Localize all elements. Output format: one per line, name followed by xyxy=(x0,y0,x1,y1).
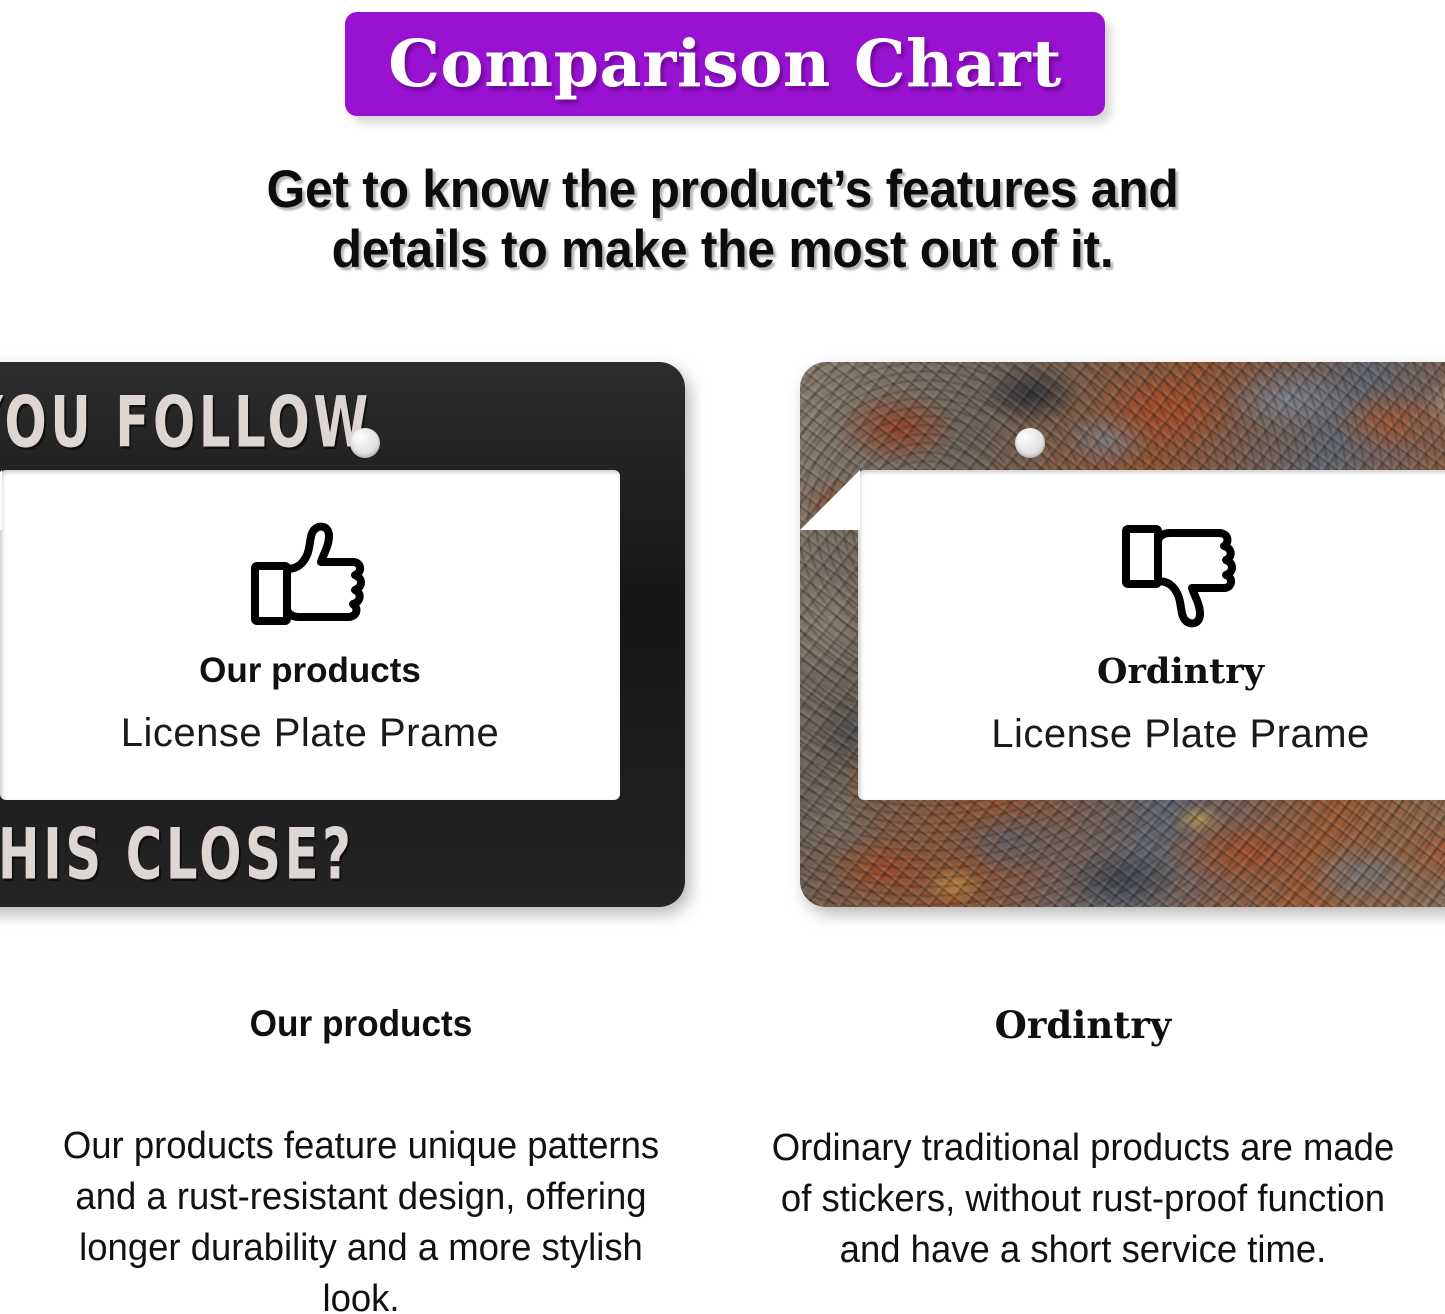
subtitle-line-2: details to make the most out of it. xyxy=(43,220,1401,280)
plate-chamfer xyxy=(800,470,860,530)
our-product-description-heading: Our products xyxy=(45,1003,678,1045)
ordinary-product-description-heading: Ordintry xyxy=(750,1003,1416,1047)
plate-chamfer xyxy=(0,470,2,530)
ordinary-product-plate-window: Ordintry License Plate Prame xyxy=(858,470,1445,800)
descriptions-row: Our products Our products feature unique… xyxy=(0,985,1445,1314)
plate-grunge-text-bottom: S THIS CLOSE? xyxy=(0,814,355,897)
our-product-description-body: Our products feature unique patterns and… xyxy=(41,1121,680,1314)
our-product-description-column: Our products Our products feature unique… xyxy=(0,985,722,1314)
ordinary-product-plate-frame: Ordintry License Plate Prame xyxy=(800,362,1445,907)
subtitle: Get to know the product’s features and d… xyxy=(43,160,1401,280)
comparison-chart-page: Comparison Chart Get to know the product… xyxy=(0,0,1445,1314)
mounting-hole xyxy=(350,428,380,458)
our-product-plate-window: Our products License Plate Prame xyxy=(0,470,620,800)
our-product-plate-frame: O YOU FOLLOW S THIS CLOSE? Our products xyxy=(0,362,685,907)
plate-grunge-text-top: O YOU FOLLOW xyxy=(0,382,372,465)
product-frames-area: O YOU FOLLOW S THIS CLOSE? Our products xyxy=(0,350,1445,930)
our-product-product-label: License Plate Prame xyxy=(121,711,500,756)
ordinary-product-product-label: License Plate Prame xyxy=(991,712,1370,757)
our-product-brand-label: Our products xyxy=(199,651,421,691)
ordinary-product-brand-label: Ordintry xyxy=(1097,651,1264,692)
title-badge: Comparison Chart xyxy=(345,12,1105,116)
thumbs-up-icon xyxy=(249,522,371,633)
thumbs-down-icon xyxy=(1120,522,1242,633)
ordinary-product-description-column: Ordintry Ordinary traditional products a… xyxy=(722,985,1444,1314)
subtitle-line-1: Get to know the product’s features and xyxy=(43,160,1401,220)
mounting-hole xyxy=(1015,428,1045,458)
page-title: Comparison Chart xyxy=(388,26,1062,102)
ordinary-product-description-body: Ordinary traditional products are made o… xyxy=(763,1123,1402,1276)
